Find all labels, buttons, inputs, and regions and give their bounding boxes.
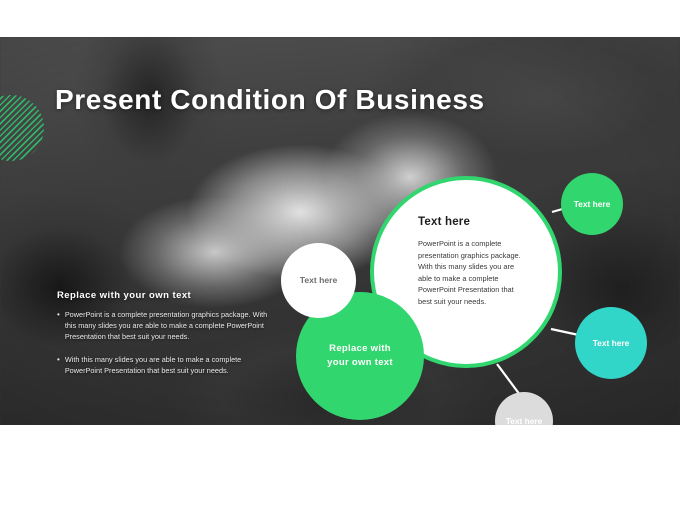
main-circle-title: Text here xyxy=(418,216,470,228)
satellite-circle-teal[interactable]: Text here xyxy=(575,307,647,379)
slide-canvas: Present Condition Of Business Replace wi… xyxy=(0,37,680,425)
bullet-icon: • xyxy=(57,309,60,342)
list-item: • With this many slides you are able to … xyxy=(57,354,272,376)
satellite-green-label: Text here xyxy=(574,198,611,211)
white-accent-circle[interactable]: Text here xyxy=(281,243,356,318)
bullet-icon: • xyxy=(57,354,60,376)
page-title: Present Condition Of Business xyxy=(55,84,485,116)
body-text-block: Replace with your own text • PowerPoint … xyxy=(57,290,272,388)
body-heading: Replace with your own text xyxy=(57,290,272,301)
satellite-circle-green[interactable]: Text here xyxy=(561,173,623,235)
bullet-text: With this many slides you are able to ma… xyxy=(65,354,272,376)
main-circle-body: PowerPoint is a complete presentation gr… xyxy=(418,238,524,308)
bullet-text: PowerPoint is a complete presentation gr… xyxy=(65,309,272,342)
satellite-teal-label: Text here xyxy=(593,337,630,350)
list-item: • PowerPoint is a complete presentation … xyxy=(57,309,272,342)
white-circle-label: Text here xyxy=(300,274,338,287)
satellite-gray-label: Text here xyxy=(506,415,543,425)
green-circle-label: Replace with your own text xyxy=(317,342,403,370)
